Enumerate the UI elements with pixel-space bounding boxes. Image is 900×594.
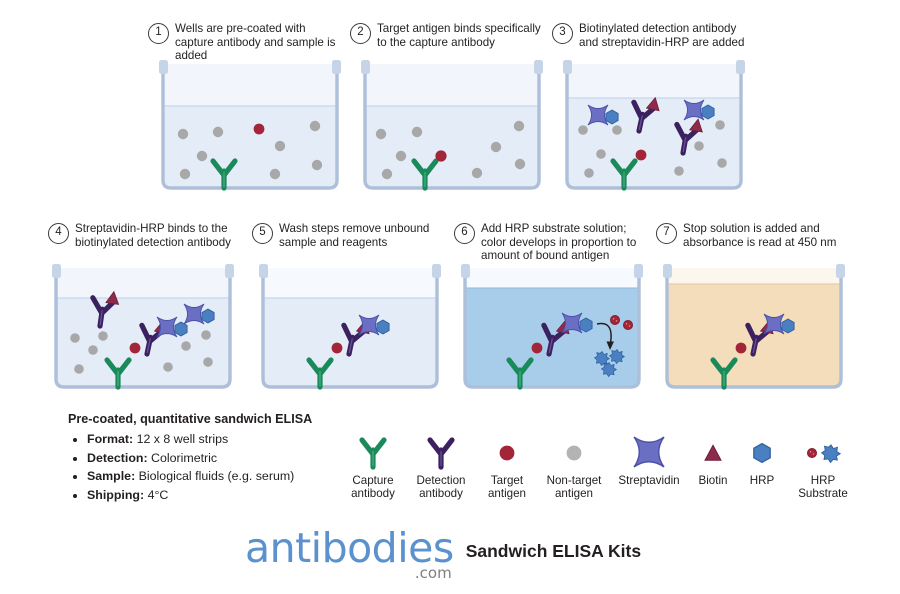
legend-label-target-antigen: Target antigen [488,474,526,501]
hrp-substrate-icon [798,428,848,470]
step-text-7: Stop solution is added and absorbance is… [683,222,854,249]
well-liquid-2 [365,64,539,188]
well-graphic-6 [457,262,647,392]
legend-item-target-antigen: Target antigen [476,428,538,501]
target-antigen-6 [532,343,543,354]
step-text-4: Streptavidin-HRP binds to the biotinylat… [75,222,244,249]
legend-label-detection-antibody: Detection antibody [417,474,466,501]
legend-item-capture-antibody: Capture antibody [340,428,406,501]
step-header-1: 1 Wells are pre-coated with capture anti… [148,22,343,63]
well-panel-4 [48,262,238,392]
legend-item-hrp-substrate: HRP Substrate [786,428,860,501]
detection-antibody-icon [420,428,462,470]
kit-info-label-detection: Detection: [87,451,148,465]
well-graphic-4 [48,262,238,392]
target-antigen-icon [494,428,520,470]
step-number-3: 3 [552,23,573,44]
kit-info-list: Format: 12 x 8 well strips Detection: Co… [68,430,312,504]
step-header-5: 5 Wash steps remove unbound sample and r… [252,222,442,249]
well-panel-7 [659,262,849,392]
legend-item-hrp: HRP [738,428,786,501]
well-panel-6 [457,262,647,392]
legend-label-capture-antibody: Capture antibody [351,474,395,501]
step-number-2: 2 [350,23,371,44]
step-header-7: 7 Stop solution is added and absorbance … [656,222,854,249]
well-panel-1 [155,58,345,193]
kit-info-item-sample: Sample: Biological fluids (e.g. serum) [87,467,312,486]
legend-item-detection-antibody: Detection antibody [406,428,476,501]
step-number-4: 4 [48,223,69,244]
legend-label-hrp: HRP [750,474,774,487]
kit-info-value-shipping: 4°C [144,488,168,502]
legend-item-biotin: Biotin [688,428,738,501]
kit-info-label-shipping: Shipping: [87,488,144,502]
well-graphic-5 [255,262,445,392]
target-antigen-4 [130,343,141,354]
biotin-icon [700,428,726,470]
step-text-3: Biotinylated detection antibody and stre… [579,22,752,49]
hrp-icon [748,428,776,470]
kit-info-label-sample: Sample: [87,469,135,483]
target-antigen-2 [435,150,446,161]
step-number-5: 5 [252,223,273,244]
step-header-2: 2 Target antigen binds specifically to t… [350,22,545,49]
streptavidin-icon [626,428,672,470]
brand-tagline: Sandwich ELISA Kits [466,541,641,562]
kit-info-block: Pre-coated, quantitative sandwich ELISA … [68,412,312,504]
target-antigen-3 [636,150,647,161]
well-liquid-5 [263,268,437,387]
target-antigen-5 [332,343,343,354]
well-graphic-3 [559,58,749,193]
step-number-6: 6 [454,223,475,244]
well-graphic-1 [155,58,345,193]
well-panel-3 [559,58,749,193]
capture-antibody-icon [352,428,394,470]
legend-item-non-target-antigen: Non-target antigen [538,428,610,501]
target-antigen-1 [254,124,265,135]
legend-label-hrp-substrate: HRP Substrate [798,474,848,501]
well-graphic-2 [357,58,547,193]
step-header-3: 3 Biotinylated detection antibody and st… [552,22,752,49]
well-liquid-3 [567,64,741,188]
step-text-5: Wash steps remove unbound sample and rea… [279,222,442,249]
kit-info-item-shipping: Shipping: 4°C [87,486,312,505]
step-text-6: Add HRP substrate solution; color develo… [481,222,646,263]
brand-wordmark: antibodies [245,528,454,569]
brand-com-suffix: .com [415,564,452,582]
target-antigen-7 [736,343,747,354]
kit-info-item-format: Format: 12 x 8 well strips [87,430,312,449]
kit-info-value-format: 12 x 8 well strips [133,432,228,446]
antibodies-logo: antibodies .com [245,528,454,569]
well-panel-5 [255,262,445,392]
step-text-1: Wells are pre-coated with capture antibo… [175,22,343,63]
well-panel-2 [357,58,547,193]
step-number-1: 1 [148,23,169,44]
kit-info-title: Pre-coated, quantitative sandwich ELISA [68,412,312,426]
step-header-4: 4 Streptavidin-HRP binds to the biotinyl… [48,222,244,249]
step-header-6: 6 Add HRP substrate solution; color deve… [454,222,646,263]
kit-info-value-sample: Biological fluids (e.g. serum) [135,469,294,483]
kit-info-item-detection: Detection: Colorimetric [87,449,312,468]
step-number-7: 7 [656,223,677,244]
legend-label-non-target-antigen: Non-target antigen [547,474,602,501]
step-text-2: Target antigen binds specifically to the… [377,22,545,49]
legend-item-streptavidin: Streptavidin [610,428,688,501]
legend: Capture antibody Detection antibody Targ… [340,428,860,501]
brand-footer: antibodies .com Sandwich ELISA Kits [245,528,641,569]
non-target-antigen-icon [561,428,587,470]
well-graphic-7 [659,262,849,392]
kit-info-label-format: Format: [87,432,133,446]
legend-label-biotin: Biotin [698,474,727,487]
well-liquid-7 [667,268,841,387]
kit-info-value-detection: Colorimetric [148,451,218,465]
legend-label-streptavidin: Streptavidin [618,474,679,487]
